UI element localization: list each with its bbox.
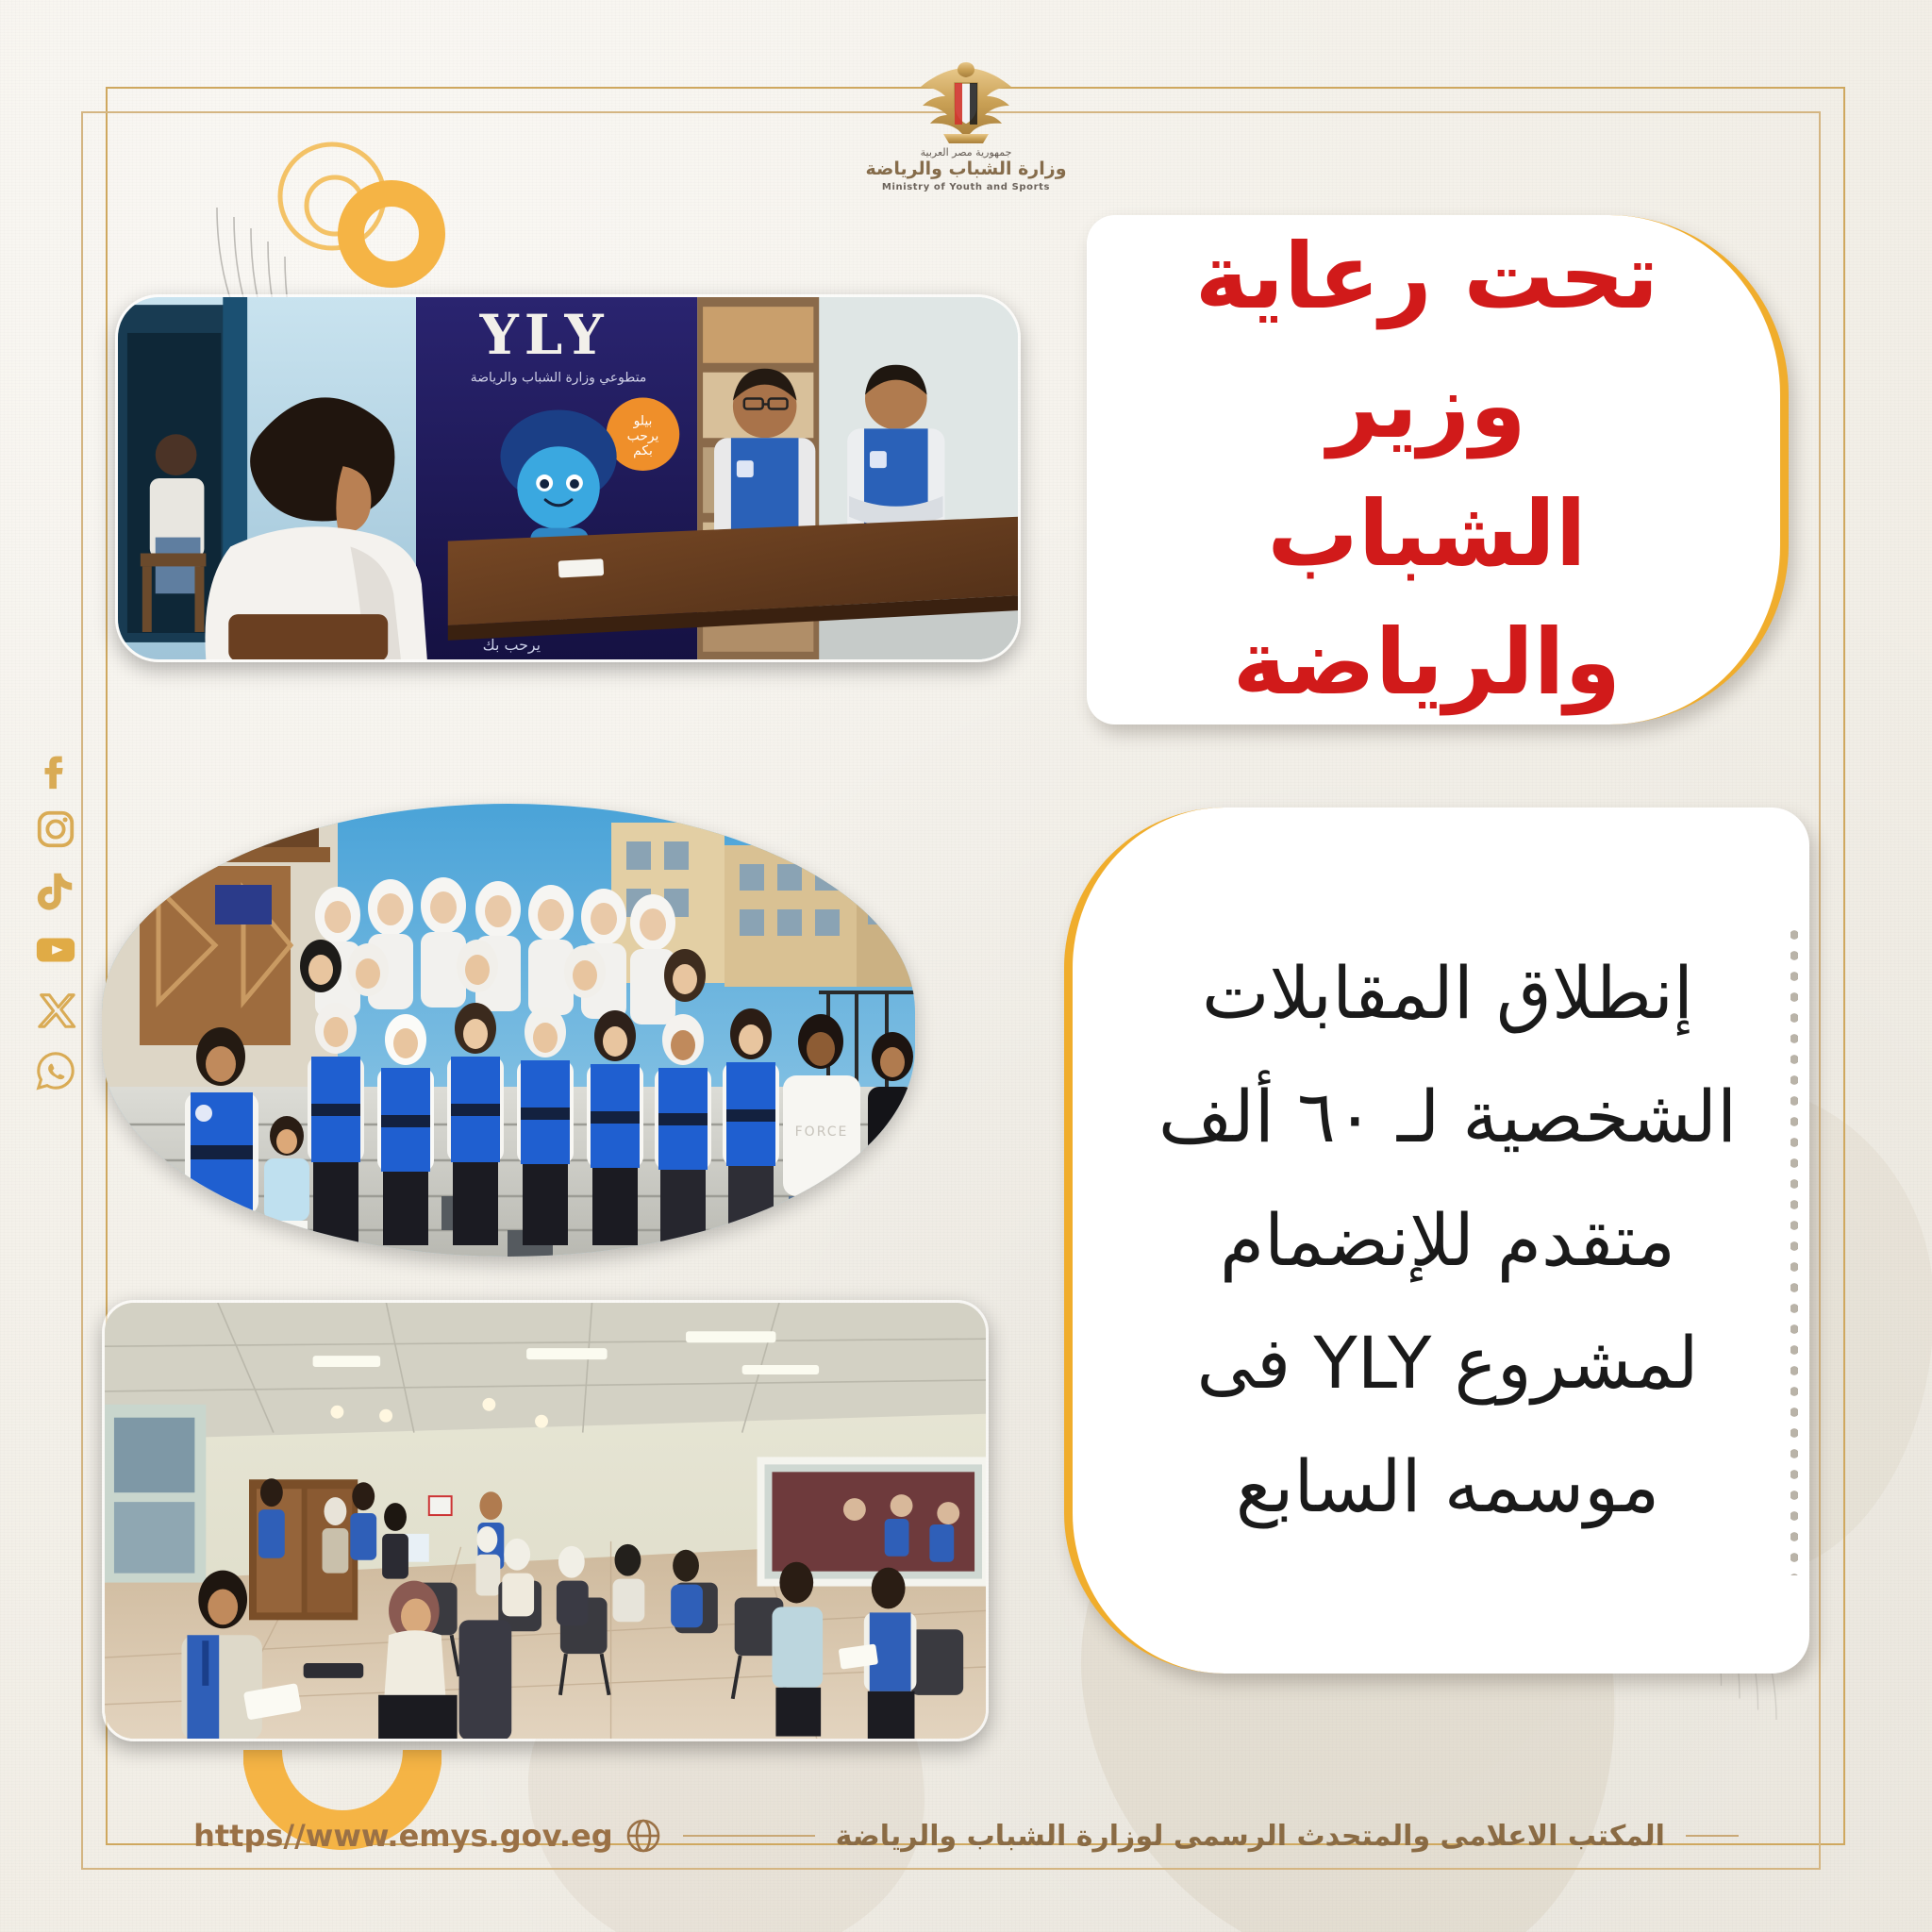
whatsapp-icon[interactable] bbox=[34, 1049, 77, 1092]
photo-1-art: YLY متطوعي وزارة الشباب والرياضة بيلو ير… bbox=[118, 297, 1018, 659]
title-card: تحت رعاية وزير الشباب والرياضة bbox=[1087, 215, 1789, 724]
x-twitter-icon[interactable] bbox=[34, 989, 77, 1032]
svg-text:YLY: YLY bbox=[479, 303, 609, 367]
svg-text:متطوعي وزارة الشباب والرياضة: متطوعي وزارة الشباب والرياضة bbox=[471, 371, 647, 386]
social-media-rail bbox=[34, 747, 77, 1092]
yly-booth-interview-photo: YLY متطوعي وزارة الشباب والرياضة بيلو ير… bbox=[115, 294, 1021, 662]
ministry-logo: جمهورية مصر العربية وزارة الشباب والرياض… bbox=[824, 58, 1108, 192]
footer-divider-right bbox=[1686, 1835, 1739, 1837]
body-text: إنطلاق المقابلات الشخصية لـ ٦٠ ألف متقدم… bbox=[1158, 932, 1737, 1549]
footer-bar: المكتب الاعلامى والمتحدث الرسمى لوزارة ا… bbox=[142, 1802, 1790, 1870]
volunteers-group-photo: FORCE bbox=[102, 804, 915, 1257]
egypt-eagle-emblem-icon bbox=[911, 58, 1021, 145]
logo-ministry-english: Ministry of Youth and Sports bbox=[824, 182, 1108, 192]
instagram-icon[interactable] bbox=[34, 808, 77, 851]
body-card: إنطلاق المقابلات الشخصية لـ ٦٠ ألف متقدم… bbox=[1064, 808, 1809, 1674]
gold-rings-decoration bbox=[238, 123, 483, 321]
footer-website-url[interactable]: https//www.emys.gov.eg bbox=[193, 1818, 613, 1854]
title-text: تحت رعاية وزير الشباب والرياضة bbox=[1115, 212, 1739, 726]
footer-divider-middle bbox=[683, 1835, 815, 1837]
logo-ministry-arabic: وزارة الشباب والرياضة bbox=[824, 159, 1108, 179]
facebook-icon[interactable] bbox=[34, 747, 77, 791]
youtube-icon[interactable] bbox=[34, 928, 77, 972]
logo-country-text: جمهورية مصر العربية bbox=[824, 147, 1108, 158]
interview-room-photo bbox=[102, 1300, 989, 1741]
globe-icon bbox=[625, 1817, 662, 1855]
photo-2-art: FORCE bbox=[102, 804, 915, 1257]
svg-text:يرحب بك: يرحب بك bbox=[483, 636, 541, 655]
svg-text:يرحب: يرحب bbox=[627, 428, 659, 443]
photo-3-art bbox=[105, 1303, 986, 1739]
footer-url-group[interactable]: https//www.emys.gov.eg bbox=[193, 1817, 662, 1855]
svg-text:بيلو: بيلو bbox=[633, 413, 653, 428]
footer-arabic-text: المكتب الاعلامى والمتحدث الرسمى لوزارة ا… bbox=[836, 1820, 1665, 1853]
tiktok-icon[interactable] bbox=[34, 868, 77, 911]
poster-canvas: جمهورية مصر العربية وزارة الشباب والرياض… bbox=[0, 0, 1932, 1932]
svg-text:بكم: بكم bbox=[633, 443, 653, 458]
svg-text:FORCE: FORCE bbox=[795, 1124, 849, 1140]
